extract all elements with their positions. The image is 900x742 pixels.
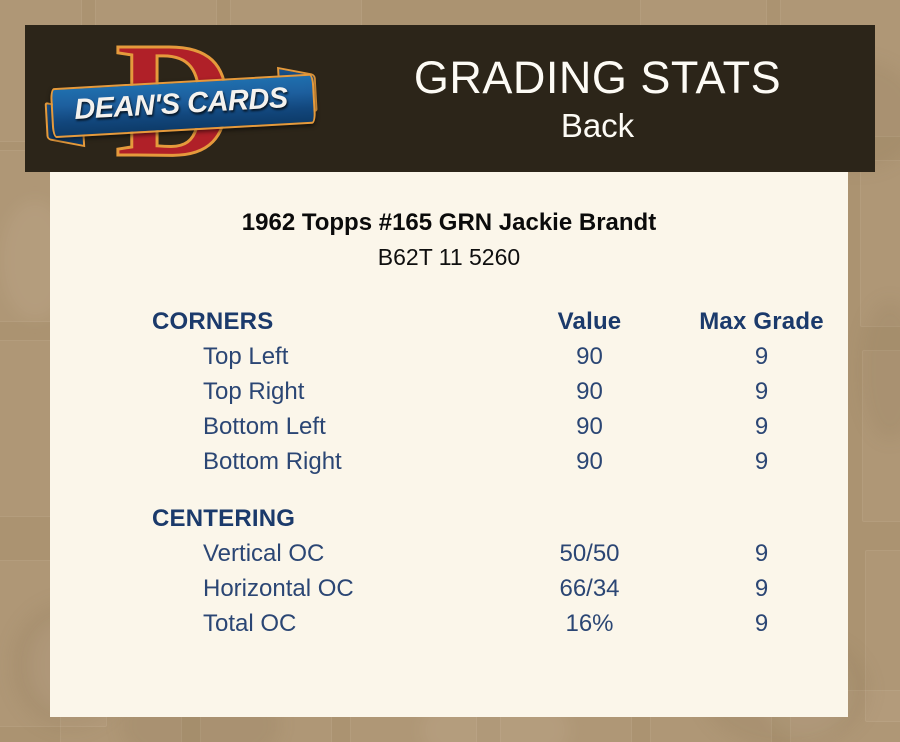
row-label: Bottom Right: [152, 448, 502, 476]
row-value: 90: [502, 378, 677, 406]
row-value: 50/50: [502, 540, 677, 568]
row-max-grade: 9: [677, 448, 846, 476]
header-bar: D DEAN'S CARDS GRADING STATS Back: [25, 25, 875, 172]
column-header-value: Value: [502, 308, 677, 336]
row-max-grade: 9: [677, 540, 846, 568]
section-heading-centering: CENTERING: [152, 505, 502, 533]
header-title-block: GRADING STATS Back: [320, 25, 875, 172]
row-label: Top Right: [152, 378, 502, 406]
logo-ribbon: DEAN'S CARDS: [44, 69, 319, 140]
row-value: 90: [502, 343, 677, 371]
row-max-grade: 9: [677, 378, 846, 406]
row-label: Top Left: [152, 343, 502, 371]
section-heading-corners: CORNERS: [152, 308, 502, 336]
row-label: Horizontal OC: [152, 575, 502, 603]
section-divider: [152, 483, 846, 505]
deans-cards-logo[interactable]: D DEAN'S CARDS: [45, 30, 320, 170]
table-row: Top Left 90 9: [152, 343, 846, 378]
row-value: 66/34: [502, 575, 677, 603]
row-value: 90: [502, 413, 677, 441]
table-row: Vertical OC 50/50 9: [152, 540, 846, 575]
table-header-row-corners: CORNERS Value Max Grade: [152, 308, 846, 343]
table-row: Total OC 16% 9: [152, 610, 846, 645]
row-max-grade: 9: [677, 610, 846, 638]
column-header-max-grade: Max Grade: [677, 308, 846, 336]
table-row: Bottom Left 90 9: [152, 413, 846, 448]
page-title: GRADING STATS: [414, 52, 781, 104]
card-title: 1962 Topps #165 GRN Jackie Brandt: [50, 209, 848, 237]
page-subtitle: Back: [561, 106, 634, 146]
card-subtitle: B62T 11 5260: [50, 244, 848, 271]
table-row: Top Right 90 9: [152, 378, 846, 413]
row-label: Bottom Left: [152, 413, 502, 441]
row-max-grade: 9: [677, 343, 846, 371]
row-label: Total OC: [152, 610, 502, 638]
table-header-row-centering: CENTERING: [152, 505, 846, 540]
row-value: 16%: [502, 610, 677, 638]
table-row: Bottom Right 90 9: [152, 448, 846, 483]
row-max-grade: 9: [677, 575, 846, 603]
row-max-grade: 9: [677, 413, 846, 441]
row-label: Vertical OC: [152, 540, 502, 568]
grading-stats-table: CORNERS Value Max Grade Top Left 90 9 To…: [152, 308, 846, 645]
content-panel: 1962 Topps #165 GRN Jackie Brandt B62T 1…: [50, 172, 848, 717]
row-value: 90: [502, 448, 677, 476]
table-row: Horizontal OC 66/34 9: [152, 575, 846, 610]
